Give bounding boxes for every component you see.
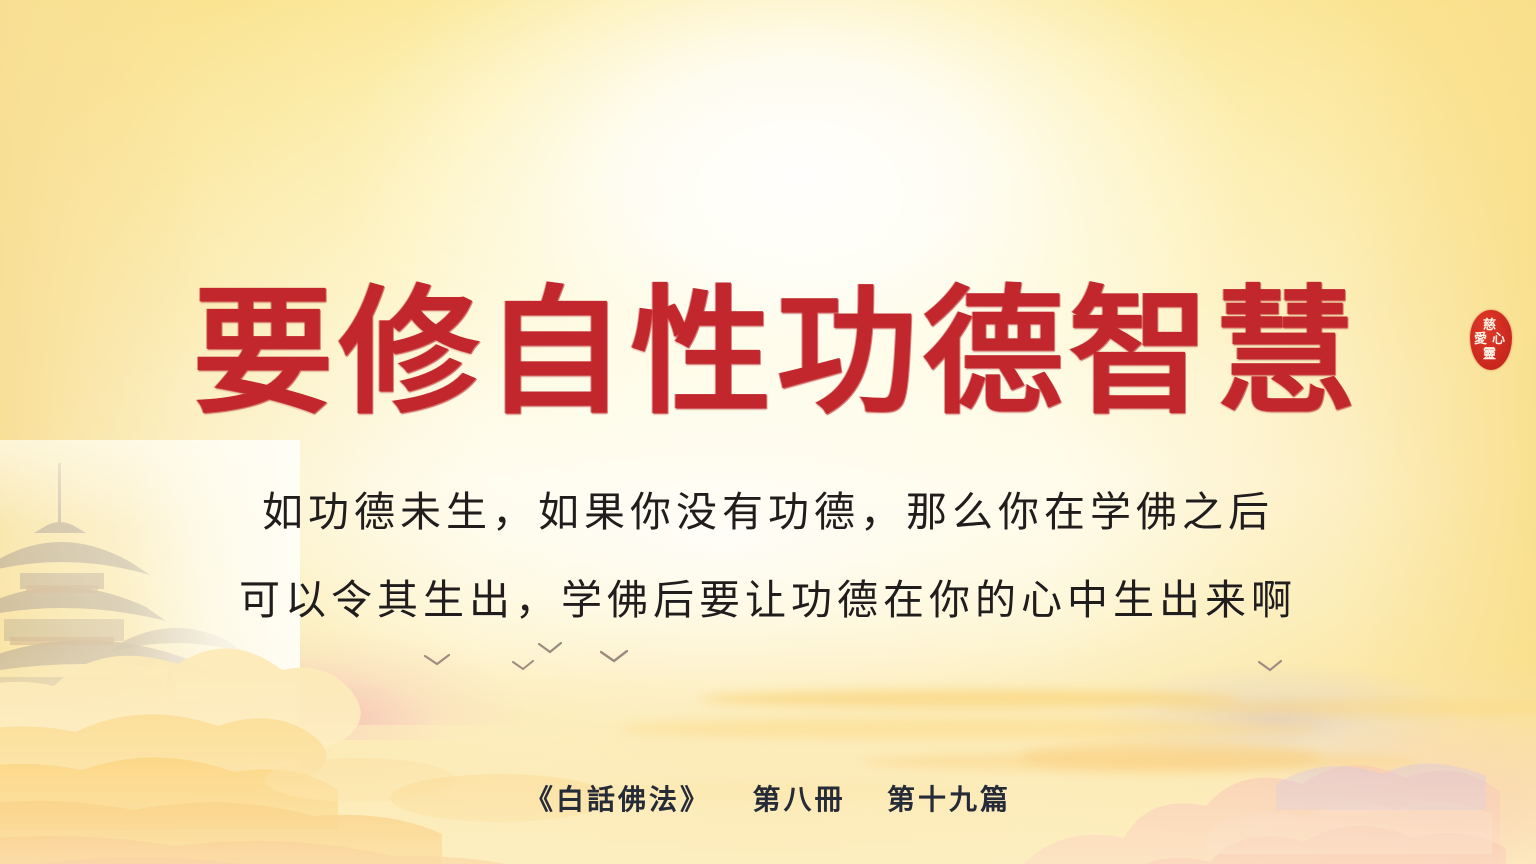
seal-stamp-icon: 慈 愛 心 靈 <box>1470 310 1512 370</box>
title-char: 慧 <box>1215 283 1356 421</box>
title-char: 修 <box>339 283 480 421</box>
body-text-block: 如功德未生，如果你没有功德，那么你在学佛之后 可以令其生出，学佛后要让功德在你的… <box>0 468 1536 644</box>
title-char: 德 <box>923 283 1064 421</box>
main-title: 要 修 自 性 功 德 智 慧 <box>0 272 1536 432</box>
title-char: 功 <box>777 283 918 421</box>
poster-canvas: 要 修 自 性 功 德 智 慧 慈 愛 心 靈 如功德未生，如果你没有功德，那么… <box>0 0 1536 864</box>
seal-char: 慈 <box>1483 319 1496 332</box>
seal-char: 靈 <box>1483 348 1496 361</box>
body-line: 如功德未生，如果你没有功德，那么你在学佛之后 <box>0 468 1536 556</box>
title-char: 智 <box>1069 283 1210 421</box>
title-char: 性 <box>631 283 772 421</box>
bird-icon <box>1258 660 1282 672</box>
title-char: 要 <box>193 283 334 421</box>
source-citation: 《白話佛法》 第八冊 第十九篇 <box>0 778 1536 818</box>
citation-volume: 第八冊 <box>752 783 845 816</box>
title-char: 自 <box>485 283 626 421</box>
pink-cloud-cluster-right <box>876 634 1536 864</box>
body-line: 可以令其生出，学佛后要让功德在你的心中生出来啊 <box>0 556 1536 644</box>
seal-char: 愛 <box>1474 333 1487 346</box>
bird-icon <box>600 650 628 663</box>
citation-chapter: 第十九篇 <box>887 783 1011 816</box>
citation-book: 《白話佛法》 <box>525 783 711 816</box>
seal-char: 心 <box>1492 333 1505 346</box>
bird-icon <box>424 654 450 666</box>
bird-icon <box>512 660 534 671</box>
